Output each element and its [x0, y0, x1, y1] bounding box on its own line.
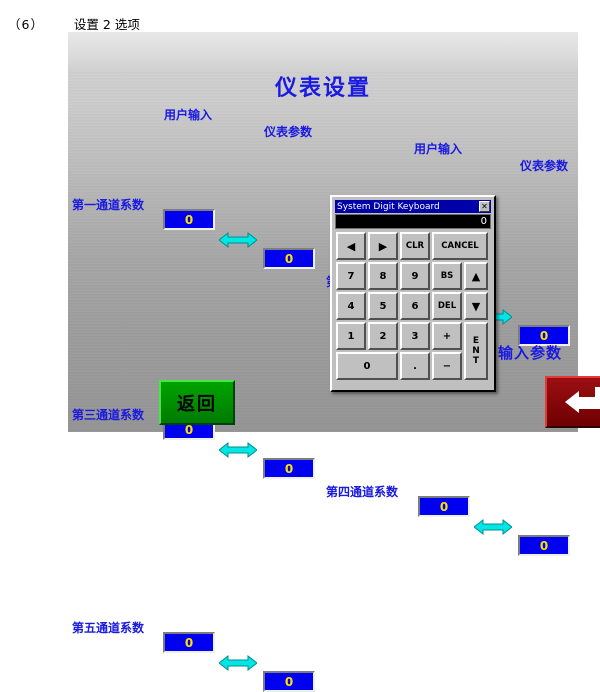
key-2[interactable]: 2 [368, 322, 398, 350]
colhead-right-user-input: 用户输入 [414, 140, 600, 157]
system-digit-keyboard-dialog[interactable]: System Digit Keyboard ✕ 0 ◀ ▶ CLR CANCEL… [330, 195, 496, 392]
channel-1-label: 第一通道系数 [72, 196, 582, 213]
channel-4-meter-param-box[interactable]: 0 [518, 535, 570, 556]
key-4[interactable]: 4 [336, 292, 366, 320]
channel-5-label: 第五通道系数 [72, 619, 582, 636]
hmi-panel: 仪表设置 用户输入 仪表参数 用户输入 仪表参数 第一通道系数 0 0 第二通道… [68, 32, 578, 432]
key-enter-char-n: N [472, 346, 480, 356]
arrow-up-icon: ▲ [472, 271, 480, 282]
caption-text: 设置 2 选项 [74, 17, 140, 32]
key-right-arrow[interactable]: ▶ [368, 232, 398, 260]
key-enter[interactable]: E N T [464, 322, 488, 380]
channel-5-user-input-box[interactable]: 0 [163, 632, 215, 653]
colhead-left-meter-param: 仪表参数 [264, 123, 600, 140]
key-up-arrow[interactable]: ▲ [464, 262, 488, 290]
colhead-right-meter-param: 仪表参数 [520, 157, 600, 174]
panel-top-band [68, 32, 578, 72]
channel-5-meter-param-box[interactable]: 0 [263, 671, 315, 692]
channel-3-sync-arrow-icon [219, 441, 257, 459]
key-enter-char-e: E [473, 336, 479, 346]
channel-3-meter-param-box[interactable]: 0 [263, 458, 315, 479]
key-5[interactable]: 5 [368, 292, 398, 320]
channel-1-user-input-box[interactable]: 0 [163, 209, 215, 230]
key-dot[interactable]: . [400, 352, 430, 380]
key-left-arrow[interactable]: ◀ [336, 232, 366, 260]
keyboard-titlebar[interactable]: System Digit Keyboard ✕ [335, 200, 491, 213]
channel-1-sync-arrow-icon [219, 231, 257, 249]
key-minus[interactable]: − [432, 352, 462, 380]
key-down-arrow[interactable]: ▼ [464, 292, 488, 320]
key-cancel[interactable]: CANCEL [432, 232, 488, 260]
channel-1-meter-param-box[interactable]: 0 [263, 248, 315, 269]
keyboard-title-text: System Digit Keyboard [337, 202, 440, 212]
return-button[interactable]: 返回 [159, 380, 235, 425]
key-0[interactable]: 0 [336, 352, 398, 380]
channel-4-sync-arrow-icon [474, 518, 512, 536]
key-backspace[interactable]: BS [432, 262, 462, 290]
caption-number: （6） [8, 17, 44, 32]
keyboard-keys: ◀ ▶ CLR CANCEL 7 8 9 BS ▲ 4 5 6 DEL ▼ 1 … [336, 232, 490, 386]
key-1[interactable]: 1 [336, 322, 366, 350]
key-delete[interactable]: DEL [432, 292, 462, 320]
close-icon[interactable]: ✕ [479, 201, 490, 212]
arrow-down-icon: ▼ [472, 301, 480, 312]
input-parameter-label: 输入参数 [498, 342, 562, 363]
enter-button[interactable] [545, 376, 600, 428]
enter-arrow-icon [563, 385, 600, 419]
channel-5-sync-arrow-icon [219, 654, 257, 672]
key-plus[interactable]: + [432, 322, 462, 350]
key-clr[interactable]: CLR [400, 232, 430, 260]
keyboard-display-field[interactable]: 0 [335, 214, 491, 229]
arrow-left-icon: ◀ [347, 241, 355, 252]
arrow-right-icon: ▶ [379, 241, 387, 252]
figure-caption: （6） 设置 2 选项 [8, 14, 140, 33]
page-title: 仪表设置 [68, 70, 578, 102]
key-7[interactable]: 7 [336, 262, 366, 290]
colhead-left-user-input: 用户输入 [164, 106, 600, 123]
key-3[interactable]: 3 [400, 322, 430, 350]
key-enter-char-t: T [473, 356, 479, 366]
key-6[interactable]: 6 [400, 292, 430, 320]
channel-3-label: 第三通道系数 [72, 406, 582, 423]
channel-4-user-input-box[interactable]: 0 [418, 496, 470, 517]
key-8[interactable]: 8 [368, 262, 398, 290]
key-9[interactable]: 9 [400, 262, 430, 290]
